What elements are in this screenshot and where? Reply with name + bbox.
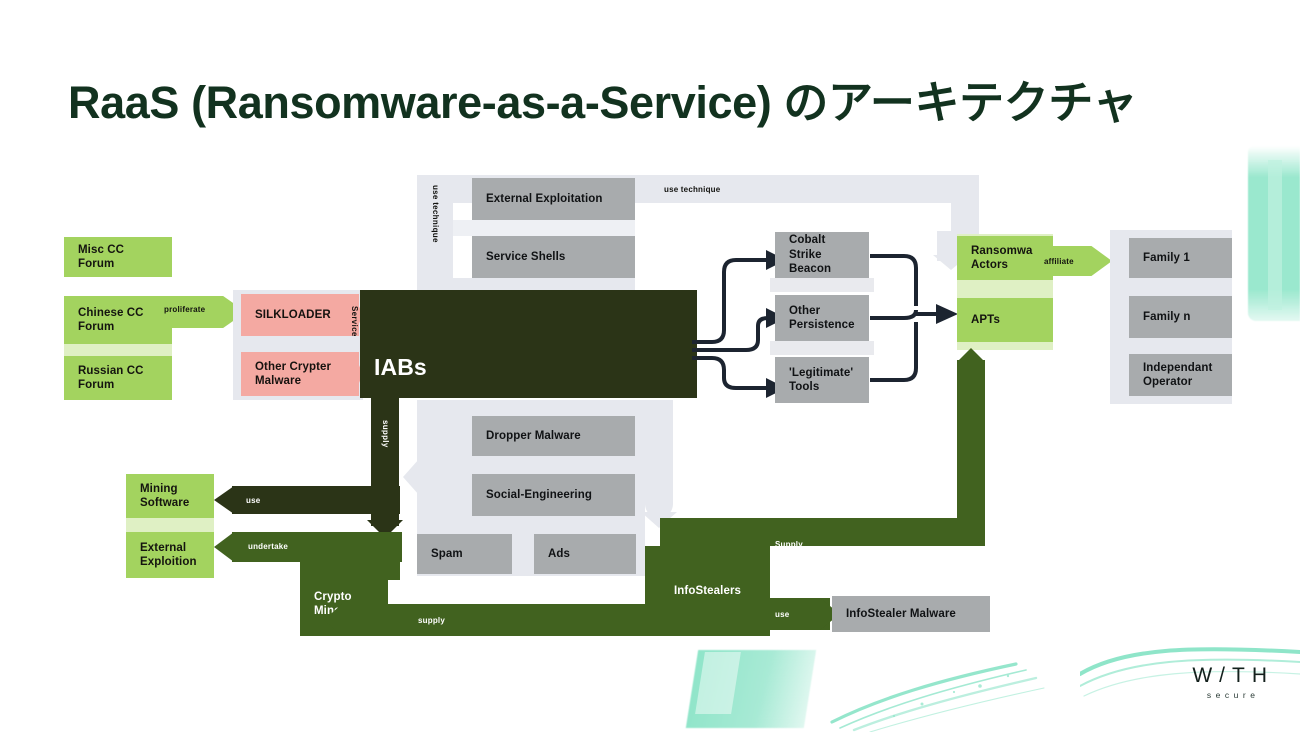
- brush-stroke-right-highlight: [1268, 160, 1282, 310]
- node-label: External Exploition: [140, 541, 197, 570]
- brush-stroke-right: [1248, 146, 1300, 321]
- node-label: 'Legitimate' Tools: [789, 366, 853, 395]
- node-label: Dropper Malware: [486, 429, 581, 443]
- node-label: Independant Operator: [1143, 361, 1212, 390]
- label-use-mining: use: [246, 496, 260, 505]
- arrow-use-mining-head: [214, 486, 234, 514]
- node-ads[interactable]: Ads: [534, 534, 636, 574]
- node-label: Misc CC Forum: [78, 243, 158, 272]
- arrow-undertake-head: [214, 532, 234, 562]
- band-top-technique-backing: [453, 278, 635, 290]
- node-misc-cc-forum[interactable]: Misc CC Forum: [64, 237, 172, 277]
- node-label: Social-Engineering: [486, 488, 592, 502]
- pipe-supply-elbow: [660, 518, 985, 546]
- node-independant-operator[interactable]: Independant Operator: [1129, 354, 1232, 396]
- label-use-technique-top-horizontal: use technique: [664, 185, 720, 194]
- node-label: Other Crypter Malware: [255, 360, 331, 389]
- node-label: APTs: [971, 313, 1000, 327]
- withsecure-logo: W/TH secure: [1192, 664, 1274, 700]
- node-label: IABs: [374, 353, 427, 382]
- label-use-technique-top-vertical: use technique: [431, 185, 440, 243]
- node-spam[interactable]: Spam: [417, 534, 512, 574]
- node-legitimate-tools[interactable]: 'Legitimate' Tools: [775, 357, 869, 403]
- node-family-n[interactable]: Family n: [1129, 296, 1232, 338]
- node-apts[interactable]: APTs: [957, 298, 1053, 342]
- node-label: InfoStealers: [674, 584, 741, 598]
- brush-stroke-bottom-left: [686, 650, 816, 728]
- node-label: Service Shells: [486, 250, 565, 264]
- node-label: Family n: [1143, 310, 1190, 324]
- node-infostealer-malware[interactable]: InfoStealer Malware: [832, 596, 990, 632]
- logo-mark: W/TH: [1192, 664, 1274, 688]
- label-supply-bottom: supply: [418, 616, 445, 625]
- node-cobalt-strike-beacon[interactable]: Cobalt Strike Beacon: [775, 232, 869, 278]
- node-social-engineering[interactable]: Social-Engineering: [472, 474, 635, 516]
- node-iabs[interactable]: IABs: [360, 290, 697, 398]
- node-label: Cobalt Strike Beacon: [789, 233, 855, 276]
- divider-top-techniques: [453, 220, 635, 236]
- node-label: Spam: [431, 547, 463, 561]
- node-mining-software[interactable]: Mining Software: [126, 474, 214, 518]
- node-dropper-malware[interactable]: Dropper Malware: [472, 416, 635, 456]
- arrows-persistence-to-actors: [866, 230, 966, 405]
- node-label: Other Persistence: [789, 304, 855, 333]
- label-service: Service: [350, 306, 359, 337]
- node-label: Mining Software: [140, 482, 189, 511]
- label-affiliate: affiliate: [1044, 257, 1074, 266]
- node-label: External Exploitation: [486, 192, 602, 206]
- label-undertake: undertake: [248, 542, 288, 551]
- divider-monetization: [126, 518, 214, 532]
- divider-persistence-2: [770, 341, 874, 355]
- node-label: Chinese CC Forum: [78, 306, 144, 335]
- pipe-infostealers-use: [762, 598, 830, 630]
- node-label: Family 1: [1143, 251, 1190, 265]
- logo-subtext: secure: [1192, 690, 1274, 700]
- page-title: RaaS (Ransomware-as-a-Service) のアーキテクチャ: [68, 66, 1137, 131]
- brush-stroke-bottom-middle: [830, 658, 1050, 732]
- node-label: Russian CC Forum: [78, 364, 144, 393]
- node-label: Ransomware Actors: [971, 244, 1044, 273]
- divider-persistence-1: [770, 278, 874, 292]
- band-bottom-technique-connector: [635, 452, 659, 470]
- node-label: InfoStealer Malware: [846, 607, 956, 621]
- pipe-undertake-riser: [300, 560, 400, 580]
- node-russian-cc-forum[interactable]: Russian CC Forum: [64, 356, 172, 400]
- divider-forums: [64, 344, 172, 356]
- label-use-infostealer: use: [775, 610, 789, 619]
- node-external-exploitation[interactable]: External Exploitation: [472, 178, 635, 220]
- brush-stroke-bottom-left-highlight: [695, 652, 741, 714]
- node-external-exploition[interactable]: External Exploition: [126, 532, 214, 578]
- label-supply-vertical: supply: [381, 420, 390, 448]
- node-label: Ads: [548, 547, 570, 561]
- node-infostealers[interactable]: InfoStealers: [645, 546, 770, 636]
- node-label: SILKLOADER: [255, 308, 331, 322]
- node-other-persistence[interactable]: Other Persistence: [775, 295, 869, 341]
- node-service-shells[interactable]: Service Shells: [472, 236, 635, 278]
- label-supply-right: Supply: [775, 540, 803, 549]
- node-family-1[interactable]: Family 1: [1129, 238, 1232, 278]
- pipe-crypto-miners-supply: [340, 604, 660, 636]
- node-chinese-cc-forum[interactable]: Chinese CC Forum: [64, 296, 172, 344]
- label-proliferate: proliferate: [164, 305, 205, 314]
